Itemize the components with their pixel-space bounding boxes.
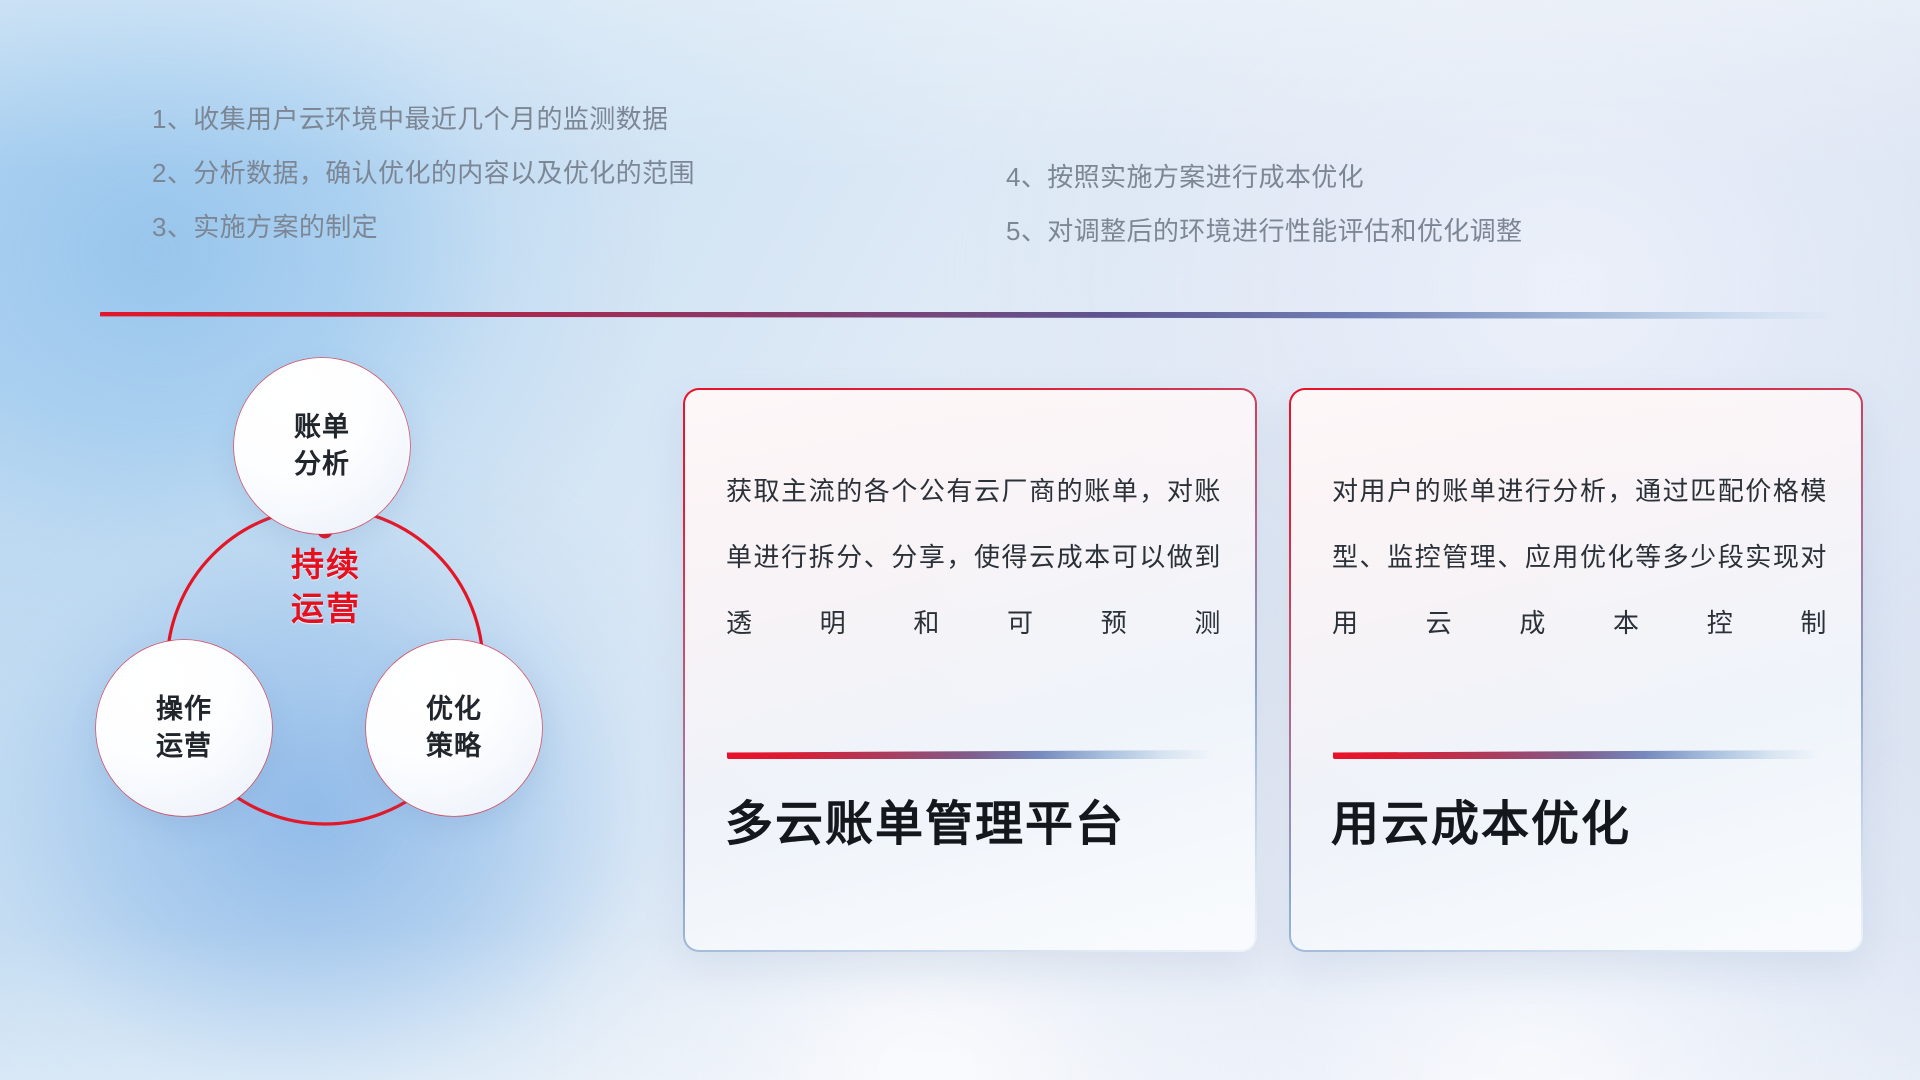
center-label-line2: 运营	[291, 590, 361, 627]
bubble-label-line1: 账单	[294, 412, 350, 442]
card-body-text: 获取主流的各个公有云厂商的账单，对账单进行拆分、分享，使得云成本可以做到透明和可…	[726, 458, 1221, 656]
diagram-center-label: 持续 运营	[231, 543, 421, 631]
step-item-1: 1、收集用户云环境中最近几个月的监测数据	[152, 92, 695, 146]
card-title: 用云成本优化	[1331, 794, 1833, 856]
diagram-bubble-label: 优化 策略	[426, 691, 482, 765]
diagram-bubble-label: 操作 运营	[156, 691, 212, 765]
center-label-line1: 持续	[291, 546, 361, 583]
slide-canvas: 1、收集用户云环境中最近几个月的监测数据 2、分析数据，确认优化的内容以及优化的…	[0, 0, 1920, 1080]
bubble-label-line1: 优化	[426, 694, 482, 724]
diagram-bubble-label: 账单 分析	[294, 409, 350, 483]
card-divider-rule	[727, 750, 1213, 759]
step-item-5: 5、对调整后的环境进行性能评估和优化调整	[1006, 204, 1522, 258]
diagram-bubble-bill-analysis[interactable]: 账单 分析	[234, 358, 410, 534]
card-title: 多云账单管理平台	[725, 794, 1227, 856]
step-item-4: 4、按照实施方案进行成本优化	[1006, 150, 1522, 204]
continuous-operation-diagram: 账单 分析 操作 运营 优化 策略 持续 运营	[96, 358, 616, 938]
feature-card-cloud-cost-optimization[interactable]: 对用户的账单进行分析，通过匹配价格模型、监控管理、应用优化等多少段实现对用云成本…	[1289, 388, 1863, 952]
step-item-2: 2、分析数据，确认优化的内容以及优化的范围	[152, 146, 695, 200]
feature-card-multi-cloud-billing[interactable]: 获取主流的各个公有云厂商的账单，对账单进行拆分、分享，使得云成本可以做到透明和可…	[683, 388, 1257, 952]
steps-column-right: 4、按照实施方案进行成本优化 5、对调整后的环境进行性能评估和优化调整	[1006, 150, 1522, 258]
card-body-text: 对用户的账单进行分析，通过匹配价格模型、监控管理、应用优化等多少段实现对用云成本…	[1332, 458, 1827, 656]
diagram-bubble-operations[interactable]: 操作 运营	[96, 640, 272, 816]
diagram-bubble-optimization-strategy[interactable]: 优化 策略	[366, 640, 542, 816]
steps-column-left: 1、收集用户云环境中最近几个月的监测数据 2、分析数据，确认优化的内容以及优化的…	[152, 92, 695, 254]
bubble-label-line2: 运营	[156, 731, 212, 761]
bubble-label-line2: 分析	[294, 449, 350, 479]
bubble-label-line1: 操作	[156, 694, 212, 724]
card-divider-rule	[1333, 750, 1819, 759]
bubble-label-line2: 策略	[426, 731, 482, 761]
step-item-3: 3、实施方案的制定	[152, 200, 695, 254]
